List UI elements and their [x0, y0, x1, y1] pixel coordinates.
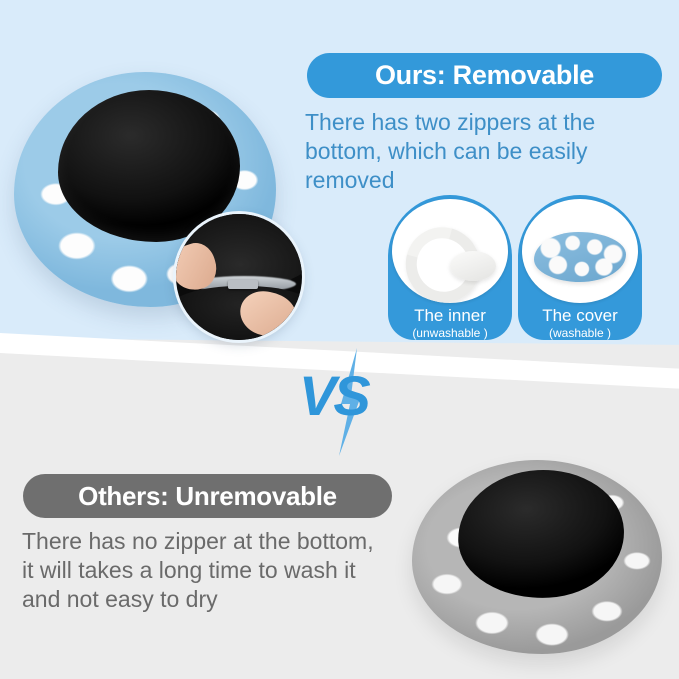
foam-pad-icon	[450, 251, 496, 281]
inner-card-subtitle: (unwashable )	[412, 326, 487, 340]
card-the-inner: The inner (unwashable )	[388, 195, 512, 340]
cover-card-title: The cover	[542, 307, 618, 325]
vs-label: VS	[299, 368, 368, 424]
cover-card-photo	[522, 199, 638, 303]
card-the-cover: The cover (washable )	[518, 195, 642, 340]
gray-pet-bed-image	[412, 460, 662, 654]
comparison-infographic: Ours: Removable There has two zippers at…	[0, 0, 679, 679]
zipper-pull-icon	[228, 280, 258, 289]
ours-badge: Ours: Removable	[307, 53, 662, 98]
gray-bed-black-cushion	[455, 466, 627, 603]
others-product-photo	[404, 452, 670, 662]
ours-description: There has two zippers at the bottom, whi…	[305, 108, 665, 196]
vs-divider-graphic: VS	[293, 352, 403, 452]
inner-card-title: The inner	[414, 307, 486, 325]
fabric-cover-icon	[534, 232, 626, 282]
others-description: There has no zipper at the bottom, it wi…	[22, 527, 402, 615]
others-badge: Others: Unremovable	[23, 474, 392, 518]
zipper-closeup-inset	[176, 214, 302, 340]
inner-card-photo	[392, 199, 508, 303]
cover-card-subtitle: (washable )	[549, 326, 611, 340]
